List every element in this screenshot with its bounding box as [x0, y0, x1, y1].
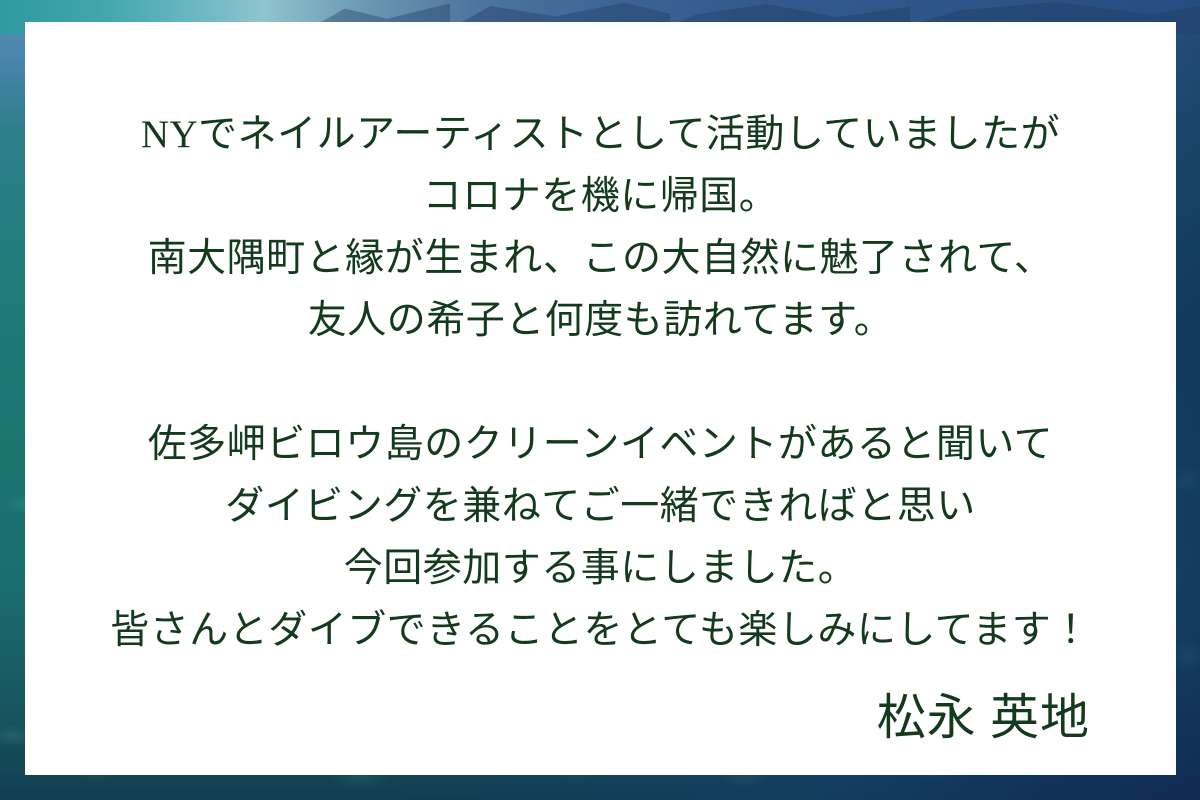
message-line: 佐多岬ビロウ島のクリーンイベントがあると聞いて	[25, 414, 1176, 476]
message-body: NYでネイルアーティストとして活動していましたが コロナを機に帰国。 南大隅町と…	[25, 104, 1176, 662]
message-line: 今回参加する事にしました。	[25, 538, 1176, 600]
message-line: 南大隅町と縁が生まれ、この大自然に魅了されて、	[25, 228, 1176, 290]
author-signature: 松永 英地	[877, 690, 1090, 746]
message-line: 皆さんとダイブできることをとても楽しみにしてます！	[25, 600, 1176, 662]
message-line: 友人の希子と何度も訪れてます。	[25, 290, 1176, 352]
message-line: ダイビングを兼ねてご一緒できればと思い	[25, 476, 1176, 538]
screenshot-stage: NYでネイルアーティストとして活動していましたが コロナを機に帰国。 南大隅町と…	[0, 0, 1200, 800]
message-card: NYでネイルアーティストとして活動していましたが コロナを機に帰国。 南大隅町と…	[25, 22, 1176, 775]
message-line: コロナを機に帰国。	[25, 166, 1176, 228]
message-line: NYでネイルアーティストとして活動していましたが	[25, 104, 1176, 166]
paragraph-spacer	[25, 352, 1176, 414]
